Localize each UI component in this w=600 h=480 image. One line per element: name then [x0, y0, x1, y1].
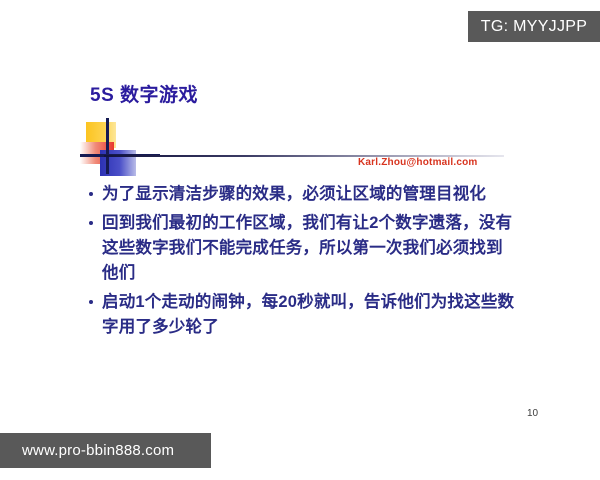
presentation-slide: TG: MYYJJPP 5S 数字游戏 Karl.Zhou@hotmail.co…	[0, 0, 600, 480]
author-email: Karl.Zhou@hotmail.com	[358, 157, 478, 168]
slide-title: 5S 数字游戏	[90, 80, 198, 107]
watermark-telegram: TG: MYYJJPP	[468, 11, 600, 42]
page-number: 10	[527, 408, 538, 419]
list-item: 为了显示清洁步骤的效果，必须让区域的管理目视化	[88, 182, 518, 207]
watermark-website-url: www.pro-bbin888.com	[0, 433, 211, 468]
logo-vertical-line	[106, 118, 109, 174]
decorative-logo	[80, 118, 166, 174]
bullet-list: 为了显示清洁步骤的效果，必须让区域的管理目视化 回到我们最初的工作区域，我们有让…	[88, 182, 518, 344]
list-item: 启动1个走动的闹钟，每20秒就叫，告诉他们为找这些数字用了多少轮了	[88, 290, 518, 340]
list-item: 回到我们最初的工作区域，我们有让2个数字遗落，没有这些数字我们不能完成任务，所以…	[88, 211, 518, 286]
